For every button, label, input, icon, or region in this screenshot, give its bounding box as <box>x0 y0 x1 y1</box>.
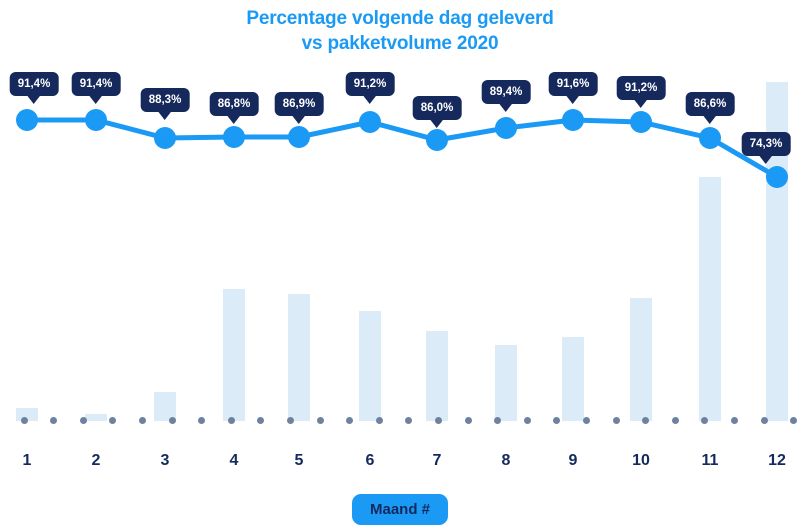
x-axis-label-8: 8 <box>502 452 511 470</box>
chart-container: Percentage volgende dag geleverd vs pakk… <box>0 0 800 532</box>
x-axis-title-wrap: Maand # <box>0 494 800 525</box>
line-marker-month-7 <box>426 129 448 151</box>
x-axis-label-5: 5 <box>295 452 304 470</box>
x-axis-label-7: 7 <box>433 452 442 470</box>
x-axis-label-9: 9 <box>569 452 578 470</box>
value-callout-month-3: 88,3% <box>141 88 190 112</box>
line-marker-month-9 <box>562 109 584 131</box>
x-axis-title-pill: Maand # <box>352 494 448 525</box>
line-marker-month-1 <box>16 109 38 131</box>
x-axis-label-6: 6 <box>366 452 375 470</box>
line-marker-month-6 <box>359 111 381 133</box>
x-axis-label-2: 2 <box>92 452 101 470</box>
line-marker-month-4 <box>223 126 245 148</box>
x-axis-label-11: 11 <box>702 452 719 470</box>
value-callout-month-12: 74,3% <box>742 132 791 156</box>
line-marker-month-10 <box>630 111 652 133</box>
line-marker-month-12 <box>766 166 788 188</box>
line-marker-month-3 <box>154 127 176 149</box>
value-callout-month-1: 91,4% <box>10 72 59 96</box>
line-marker-month-8 <box>495 117 517 139</box>
line-marker-month-5 <box>288 126 310 148</box>
line-series-percentage <box>0 0 800 440</box>
line-path <box>27 120 777 177</box>
value-callout-month-11: 86,6% <box>686 92 735 116</box>
value-callout-month-2: 91,4% <box>72 72 121 96</box>
x-axis-label-1: 1 <box>23 452 32 470</box>
x-axis-label-3: 3 <box>161 452 170 470</box>
value-callout-month-8: 89,4% <box>482 80 531 104</box>
value-callout-month-7: 86,0% <box>413 96 462 120</box>
value-callout-month-4: 86,8% <box>210 92 259 116</box>
value-callout-month-10: 91,2% <box>617 76 666 100</box>
line-marker-month-2 <box>85 109 107 131</box>
value-callout-month-5: 86,9% <box>275 92 324 116</box>
line-marker-month-11 <box>699 127 721 149</box>
x-axis-label-4: 4 <box>230 452 239 470</box>
value-callout-month-6: 91,2% <box>346 72 395 96</box>
x-axis-label-12: 12 <box>768 452 786 470</box>
x-axis-label-10: 10 <box>632 452 650 470</box>
plot-area: 91,4%91,4%88,3%86,8%86,9%91,2%86,0%89,4%… <box>0 0 800 440</box>
x-axis-labels: 123456789101112 <box>0 452 800 480</box>
value-callout-month-9: 91,6% <box>549 72 598 96</box>
